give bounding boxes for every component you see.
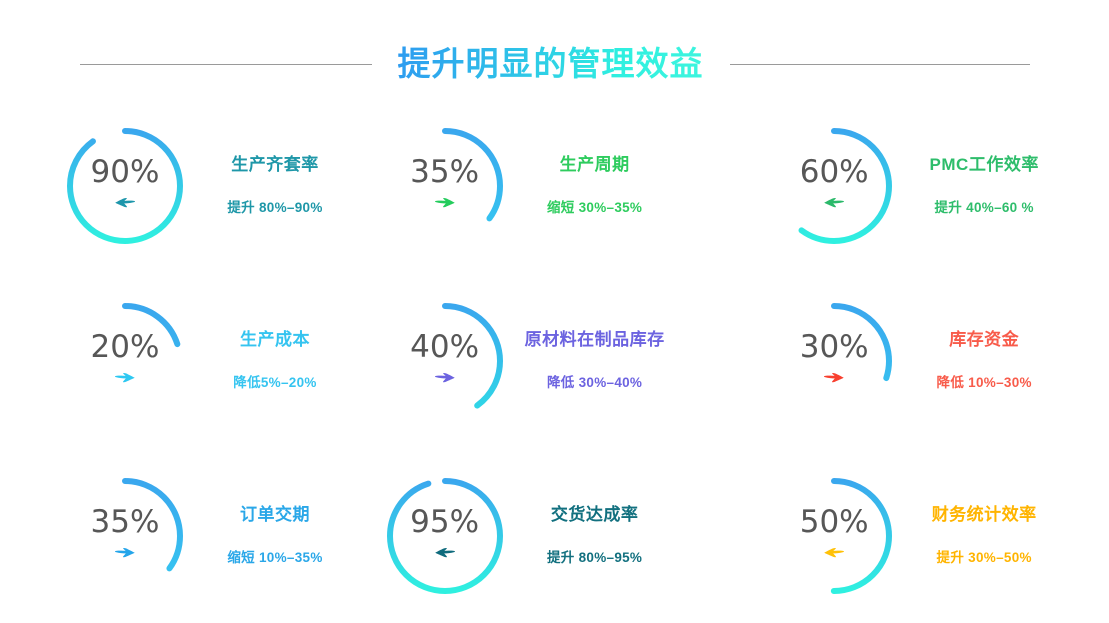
gauge-center: 50% — [771, 473, 897, 599]
gauge-center: 90% — [62, 123, 188, 249]
metric-card[interactable]: 90%生产齐套率提升 80%–90% — [0, 98, 370, 273]
progress-gauge: 35% — [382, 123, 508, 249]
gauge-center: 30% — [771, 298, 897, 424]
metric-subtitle: 降低 10%–30% — [937, 374, 1032, 392]
metric-text-block: 库存资金降低 10%–30% — [909, 329, 1059, 392]
metric-text-block: 交货达成率提升 80%–95% — [520, 504, 670, 567]
metric-text-block: PMC工作效率提升 40%–60 % — [909, 154, 1059, 217]
gauge-percent-label: 35% — [410, 155, 479, 189]
metric-subtitle: 降低 30%–40% — [547, 374, 642, 392]
metric-title: 交货达成率 — [551, 504, 639, 526]
gauge-percent-label: 30% — [800, 330, 869, 364]
metric-subtitle: 降低5%–20% — [233, 374, 316, 392]
metric-card[interactable]: 50%财务统计效率提升 30%–50% — [739, 448, 1109, 623]
arrow-up-icon — [432, 540, 458, 566]
metric-text-block: 生产齐套率提升 80%–90% — [200, 154, 350, 217]
arrow-down-icon — [432, 190, 458, 216]
progress-gauge: 30% — [771, 298, 897, 424]
metric-text-block: 财务统计效率提升 30%–50% — [909, 504, 1059, 567]
gauge-center: 95% — [382, 473, 508, 599]
metric-card[interactable]: 35%订单交期缩短 10%–35% — [0, 448, 370, 623]
progress-gauge: 20% — [62, 298, 188, 424]
metric-card[interactable]: 60%PMC工作效率提升 40%–60 % — [739, 98, 1109, 273]
metric-card[interactable]: 40%原材料在制品库存降低 30%–40% — [370, 273, 740, 448]
metric-card[interactable]: 35%生产周期缩短 30%–35% — [370, 98, 740, 273]
metrics-grid: 90%生产齐套率提升 80%–90%35%生产周期缩短 30%–35%60%PM… — [0, 98, 1109, 623]
metric-text-block: 订单交期缩短 10%–35% — [200, 504, 350, 567]
arrow-down-icon — [112, 365, 138, 391]
gauge-center: 20% — [62, 298, 188, 424]
metric-title: 原材料在制品库存 — [525, 329, 665, 351]
metric-card[interactable]: 95%交货达成率提升 80%–95% — [370, 448, 740, 623]
metric-card[interactable]: 30%库存资金降低 10%–30% — [739, 273, 1109, 448]
metric-title: 生产齐套率 — [231, 154, 319, 176]
metric-subtitle: 提升 80%–95% — [547, 549, 642, 567]
gauge-center: 35% — [382, 123, 508, 249]
metric-subtitle: 提升 80%–90% — [227, 199, 322, 217]
progress-gauge: 90% — [62, 123, 188, 249]
progress-gauge: 60% — [771, 123, 897, 249]
progress-gauge: 95% — [382, 473, 508, 599]
arrow-down-icon — [432, 365, 458, 391]
gauge-center: 35% — [62, 473, 188, 599]
metric-title: 生产成本 — [240, 329, 310, 351]
gauge-center: 40% — [382, 298, 508, 424]
title-rule-right — [730, 64, 1030, 65]
arrow-down-icon — [821, 365, 847, 391]
gauge-percent-label: 95% — [410, 505, 479, 539]
metric-title: 财务统计效率 — [932, 504, 1037, 526]
metric-subtitle: 提升 40%–60 % — [935, 199, 1034, 217]
gauge-percent-label: 20% — [91, 330, 160, 364]
metric-card[interactable]: 20%生产成本降低5%–20% — [0, 273, 370, 448]
metric-title: 生产周期 — [560, 154, 630, 176]
metric-subtitle: 缩短 10%–35% — [227, 549, 322, 567]
metric-title: 库存资金 — [949, 329, 1019, 351]
metric-text-block: 生产周期缩短 30%–35% — [520, 154, 670, 217]
metric-subtitle: 提升 30%–50% — [937, 549, 1032, 567]
arrow-down-icon — [112, 540, 138, 566]
metric-title: 订单交期 — [240, 504, 310, 526]
arrow-up-icon — [821, 190, 847, 216]
gauge-percent-label: 50% — [800, 505, 869, 539]
page-header: 提升明显的管理效益 — [0, 38, 1109, 90]
metric-text-block: 原材料在制品库存降低 30%–40% — [520, 329, 670, 392]
gauge-percent-label: 60% — [800, 155, 869, 189]
page-title: 提升明显的管理效益 — [398, 42, 704, 86]
progress-gauge: 50% — [771, 473, 897, 599]
metric-text-block: 生产成本降低5%–20% — [200, 329, 350, 392]
progress-gauge: 40% — [382, 298, 508, 424]
title-rule-left — [80, 64, 372, 65]
gauge-percent-label: 40% — [410, 330, 479, 364]
metric-title: PMC工作效率 — [930, 154, 1039, 176]
arrow-up-icon — [112, 190, 138, 216]
arrow-up-icon — [821, 540, 847, 566]
gauge-center: 60% — [771, 123, 897, 249]
metric-subtitle: 缩短 30%–35% — [547, 199, 642, 217]
gauge-percent-label: 35% — [91, 505, 160, 539]
gauge-percent-label: 90% — [91, 155, 160, 189]
progress-gauge: 35% — [62, 473, 188, 599]
